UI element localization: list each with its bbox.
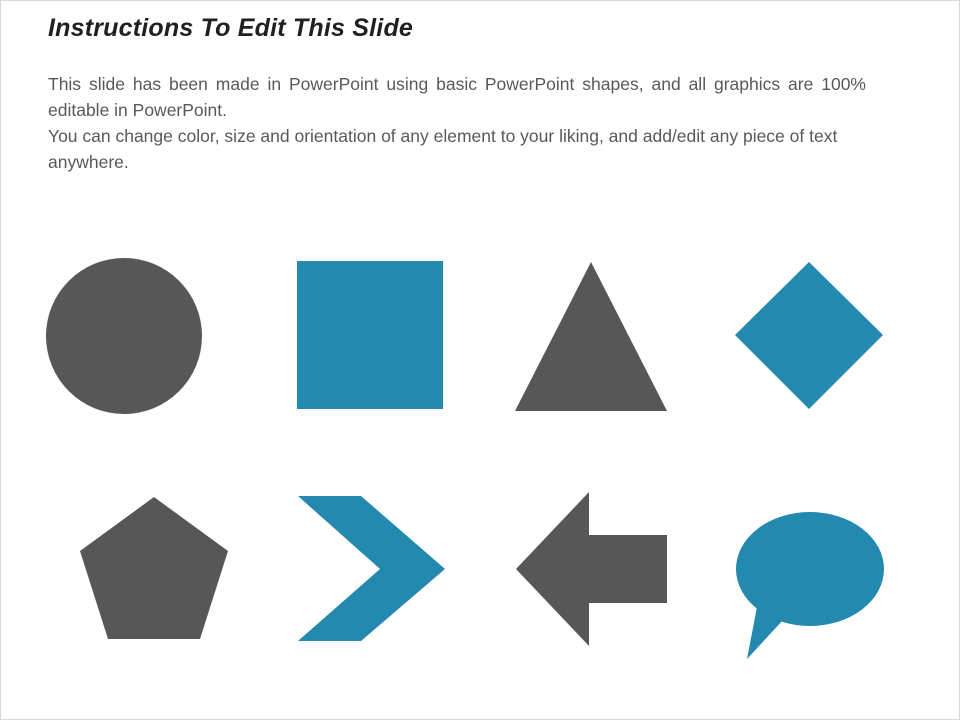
circle-shape[interactable] xyxy=(46,231,266,431)
instructions-text-block: This slide has been made in PowerPoint u… xyxy=(48,71,866,175)
chevron-arrow-glyph xyxy=(298,496,445,641)
speech-bubble-glyph xyxy=(736,512,884,659)
speech-bubble-shape[interactable] xyxy=(700,481,920,681)
slide-canvas: Instructions To Edit This Slide This sli… xyxy=(0,0,960,720)
square-glyph xyxy=(297,261,443,409)
pentagon-shape[interactable] xyxy=(46,481,266,681)
triangle-glyph xyxy=(515,262,667,411)
pentagon-glyph xyxy=(80,497,228,639)
square-shape[interactable] xyxy=(264,231,484,431)
shape-gallery xyxy=(1,216,960,686)
page-title: Instructions To Edit This Slide xyxy=(48,13,748,44)
chevron-arrow-shape[interactable] xyxy=(264,481,484,681)
left-arrow-shape[interactable] xyxy=(482,481,702,681)
diamond-shape[interactable] xyxy=(700,231,920,431)
instructions-paragraph-1: This slide has been made in PowerPoint u… xyxy=(48,71,866,123)
instructions-paragraph-2: You can change color, size and orientati… xyxy=(48,123,866,175)
circle-glyph xyxy=(46,258,202,414)
left-arrow-glyph xyxy=(516,492,667,646)
diamond-glyph xyxy=(735,262,883,409)
triangle-shape[interactable] xyxy=(482,231,702,431)
